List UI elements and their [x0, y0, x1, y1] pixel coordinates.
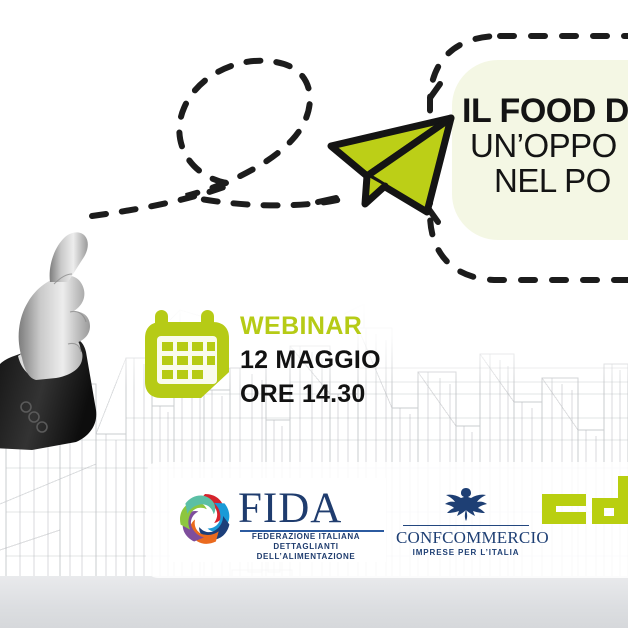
eagle-icon [443, 486, 489, 522]
fida-tagline-line-1: FEDERAZIONE ITALIANA [226, 532, 386, 542]
webinar-time: ORE 14.30 [240, 382, 381, 407]
headline-line-3: NEL PO [462, 164, 628, 198]
fida-wordmark: FIDA [238, 487, 342, 530]
confcommercio-tagline: IMPRESE PER L’ITALIA [396, 549, 536, 557]
poster-canvas: IL FOOD D UN’OPPO NEL PO [0, 0, 628, 628]
paper-plane-icon [323, 102, 469, 220]
ground-strip [0, 576, 628, 628]
webinar-date: 12 MAGGIO [240, 348, 381, 373]
headline-line-1: IL FOOD D [462, 94, 628, 129]
fida-tagline-line-2: DETTAGLIANTI DELL’ALIMENTAZIONE [226, 542, 386, 562]
webinar-details: WEBINAR 12 MAGGIO ORE 14.30 [240, 314, 381, 407]
fida-tagline: FEDERAZIONE ITALIANA DETTAGLIANTI DELL’A… [226, 532, 386, 561]
confcommercio-divider [403, 525, 529, 526]
headline-text: IL FOOD D UN’OPPO NEL PO [462, 94, 628, 198]
webinar-label: WEBINAR [240, 314, 381, 339]
confcommercio-logo: CONFCOMMERCIO IMPRESE PER L’ITALIA [396, 486, 536, 557]
headline-line-2: UN’OPPO [462, 129, 628, 163]
calendar-icon [141, 306, 233, 402]
confcommercio-wordmark: CONFCOMMERCIO [396, 529, 536, 546]
edi-wordmark-icon [540, 468, 628, 534]
